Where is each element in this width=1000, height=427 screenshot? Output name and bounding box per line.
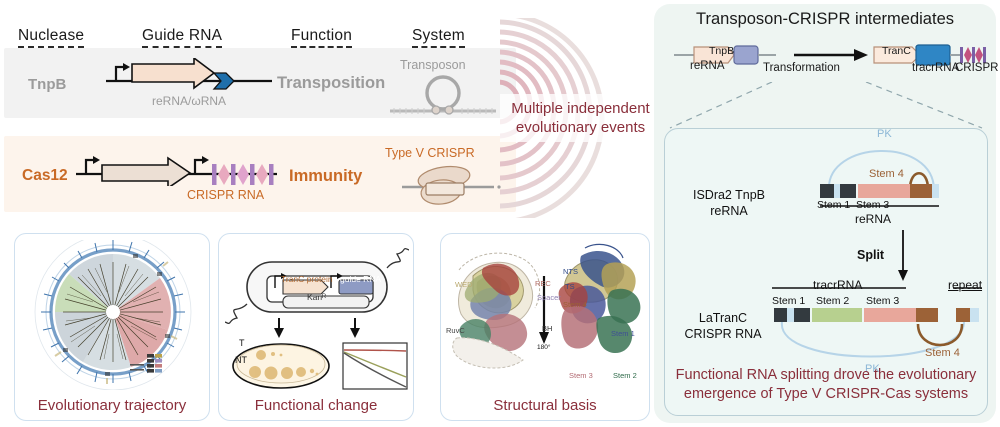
system-label-type-v-crispr: Type V CRISPR <box>385 146 475 160</box>
label-plate-targeting: T <box>239 338 245 348</box>
label-bh: BH <box>542 324 552 333</box>
label-tracrrna-top: tracrRNA <box>912 62 959 74</box>
label-stem3-structure: Stem 3 <box>569 371 593 380</box>
split-arrow <box>888 230 918 282</box>
label-stem2-bottom: Stem 2 <box>816 295 849 307</box>
label-rec: REC <box>535 279 551 288</box>
label-rerna-top: reRNA <box>690 60 725 72</box>
label-nts: NTS <box>563 267 578 276</box>
gene-diagram-cas12 <box>74 152 279 186</box>
guide-rna-label-cas12: CRISPR RNA <box>187 188 264 202</box>
label-kan-marker: Kanᴿ <box>307 292 326 302</box>
middle-annotation-line1: Multiple independent <box>493 100 668 119</box>
label-stem3-bottom: Stem 3 <box>866 295 899 307</box>
label-stem4-top: Stem 4 <box>869 168 904 180</box>
label-split: Split <box>857 248 884 262</box>
label-tracrrna-bracket: tracrRNA <box>813 278 862 292</box>
label-stem4-bottom: Stem 4 <box>925 347 960 359</box>
middle-annotation: Multiple independent evolutionary events <box>493 100 668 138</box>
right-panel-caption-line2: emergence of Type V CRISPR-Cas systems <box>666 385 986 404</box>
label-crispr-array: CRISPR <box>955 62 998 74</box>
functional-assay-schematic <box>225 242 409 394</box>
label-stem4-structure: Stem 4 <box>563 300 587 309</box>
circular-phylogenetic-tree <box>23 240 203 390</box>
label-latranc: LaTranC <box>668 311 778 325</box>
label-stem1-bottom: Stem 1 <box>772 295 805 307</box>
right-panel-title: Transposon-CRISPR intermediates <box>660 10 990 29</box>
label-pk-top: PK <box>877 128 892 140</box>
label-isdra2-tnpb: ISDra2 TnpB <box>674 188 784 202</box>
card-evolutionary-trajectory: Evolutionary trajectory <box>14 233 210 421</box>
function-label-tnpb: Transposition <box>277 74 385 93</box>
label-latranc-crispr-rna: CRISPR RNA <box>668 327 778 341</box>
card-structural-basis: WED REC Spacer RuvC BH NTS TS Stem 4 Ste… <box>440 233 650 421</box>
right-panel-caption: Functional RNA splitting drove the evolu… <box>666 366 986 404</box>
gene-diagram-tnpb <box>104 58 274 92</box>
label-tranc-protein: TranC protein <box>281 274 333 284</box>
card-functional-change: TranC protein guide RNA Kanᴿ T NT Functi… <box>218 233 414 421</box>
system-label-transposon: Transposon <box>400 58 466 72</box>
dashed-connectors <box>654 82 996 132</box>
label-isdra2-rerna: reRNA <box>674 204 784 218</box>
label-ruvc: RuvC <box>446 326 465 335</box>
figure-root: Nuclease Guide RNA Function System TnpB … <box>0 0 1000 427</box>
label-tranc-gene: TranC <box>882 45 911 57</box>
row-label-tnpb: TnpB <box>28 76 66 93</box>
label-stem3-top: Stem 3 <box>856 199 889 211</box>
label-guide-rna-plasmid: guide RNA <box>340 274 381 284</box>
label-stem1-structure: Stem 1 <box>611 329 635 338</box>
label-plate-nontargeting: NT <box>235 355 247 365</box>
label-rerna-underline: reRNA <box>855 212 891 226</box>
function-label-cas12: Immunity <box>289 167 362 186</box>
crispr-effector-icon <box>396 161 506 211</box>
rerna-architecture-diagram <box>812 134 982 232</box>
label-stem2-structure: Stem 2 <box>613 371 637 380</box>
label-transformation-arrow: Transformation <box>763 62 840 74</box>
label-tnpb-gene: TnpB <box>709 45 734 57</box>
label-rotation-angle: 180° <box>537 344 550 351</box>
column-header-system: System <box>412 27 465 48</box>
row-label-cas12: Cas12 <box>22 167 68 185</box>
guide-rna-label-tnpb: reRNA/ωRNA <box>152 94 226 108</box>
column-header-nuclease: Nuclease <box>18 27 84 48</box>
label-spacer: Spacer <box>537 293 561 302</box>
label-ts: TS <box>565 282 575 291</box>
right-panel-caption-line1: Functional RNA splitting drove the evolu… <box>666 366 986 385</box>
card-caption-evolutionary-trajectory: Evolutionary trajectory <box>15 397 209 414</box>
transposon-icon <box>388 73 498 118</box>
label-stem1-top: Stem 1 <box>817 199 850 211</box>
card-caption-functional-change: Functional change <box>219 397 413 414</box>
label-wed: WED <box>455 280 473 289</box>
middle-annotation-line2: evolutionary events <box>493 119 668 138</box>
label-repeat-bracket: repeat <box>948 278 982 292</box>
column-header-guide-rna: Guide RNA <box>142 27 222 48</box>
card-caption-structural-basis: Structural basis <box>441 397 649 414</box>
column-header-function: Function <box>291 27 352 48</box>
